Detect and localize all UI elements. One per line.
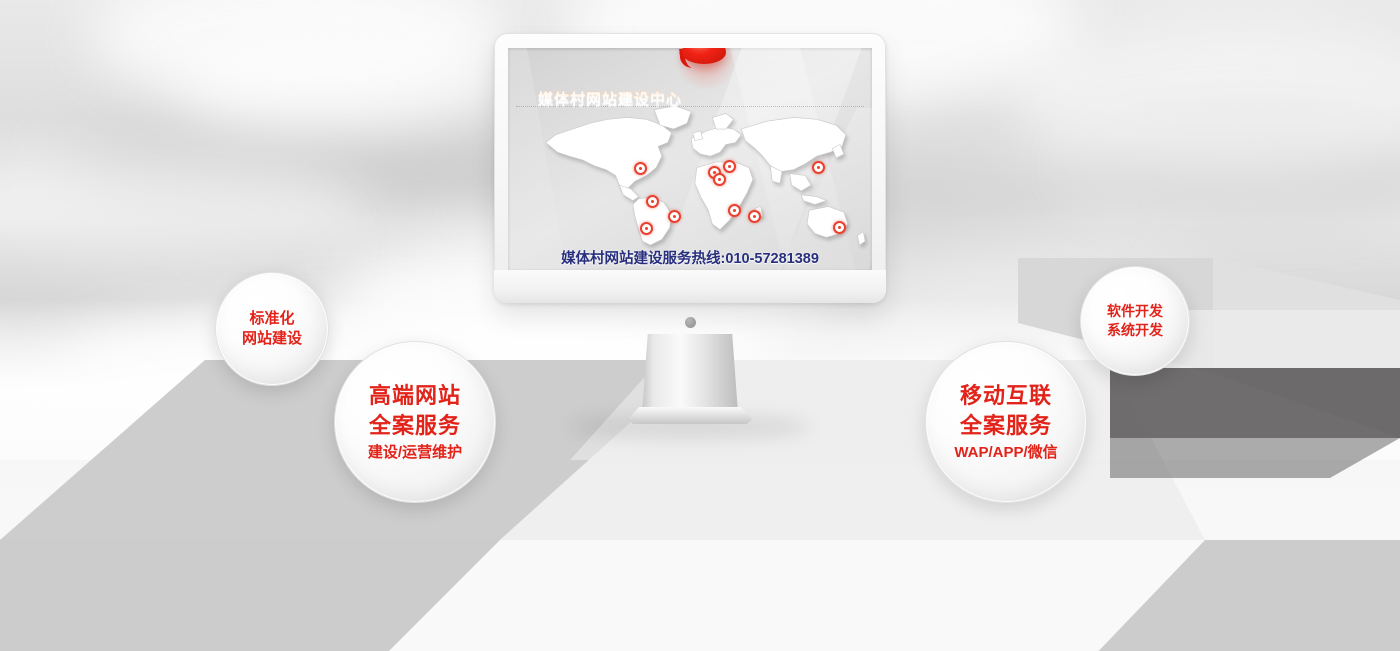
location-marker-icon[interactable] — [634, 162, 647, 175]
bubble-software-development[interactable]: 软件开发 系统开发 — [1080, 266, 1190, 376]
bubble-standard-website[interactable]: 标准化 网站建设 — [215, 272, 329, 386]
service-hotline: 媒体村网站建设服务热线:010-57281389 — [561, 247, 819, 268]
bubble-line: 网站建设 — [242, 329, 302, 349]
bubble-line: 高端网站 — [369, 381, 461, 411]
monitor-stand-neck — [642, 334, 738, 413]
bubble-line: 软件开发 — [1107, 302, 1163, 321]
world-map-icon — [526, 100, 856, 250]
bubble-line: 系统开发 — [1107, 321, 1163, 340]
map-pin-icon — [676, 48, 728, 74]
bubble-line: 全案服务 — [960, 411, 1052, 441]
bubble-subline: 建设/运营维护 — [368, 443, 462, 463]
apple-logo-dot-icon — [685, 317, 696, 328]
bubble-line: 标准化 — [249, 309, 294, 329]
monitor-stand-base — [628, 407, 752, 424]
monitor-screen[interactable]: 媒体村网站建设中心 媒体村网站建设服务热线:010-57281389 — [508, 48, 872, 270]
world-map-svg — [526, 100, 856, 250]
location-marker-icon[interactable] — [713, 173, 726, 186]
location-marker-icon[interactable] — [723, 160, 736, 173]
location-marker-icon[interactable] — [748, 210, 761, 223]
bubble-subline: WAP/APP/微信 — [954, 443, 1057, 463]
location-marker-icon[interactable] — [812, 161, 825, 174]
location-marker-icon[interactable] — [833, 221, 846, 234]
bubble-mobile-internet[interactable]: 移动互联 全案服务 WAP/APP/微信 — [925, 341, 1087, 503]
bubble-line: 全案服务 — [369, 411, 461, 441]
location-marker-icon[interactable] — [668, 210, 681, 223]
banner-stage: 媒体村网站建设中心 媒体村网站建设服务热线:010-57281389 标准化 网… — [0, 0, 1400, 651]
cloud — [180, 30, 510, 140]
monitor-chin — [494, 270, 886, 303]
location-marker-icon[interactable] — [646, 195, 659, 208]
bubble-line: 移动互联 — [960, 381, 1052, 411]
screen-title: 媒体村网站建设中心 — [538, 88, 682, 109]
imac-monitor: 媒体村网站建设中心 媒体村网站建设服务热线:010-57281389 — [494, 33, 886, 303]
location-marker-icon[interactable] — [728, 204, 741, 217]
location-marker-icon[interactable] — [640, 222, 653, 235]
bubble-high-end-website[interactable]: 高端网站 全案服务 建设/运营维护 — [334, 341, 496, 503]
